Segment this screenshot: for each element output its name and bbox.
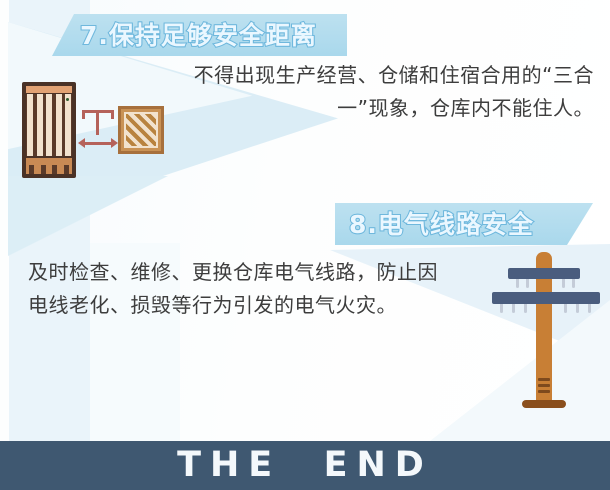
pole-crossarm-lower bbox=[492, 292, 600, 304]
pole-insulator-peg bbox=[512, 304, 515, 313]
section-banner-7: 7.保持足够安全距离 bbox=[52, 14, 347, 56]
cabinet-top-trim bbox=[26, 86, 72, 93]
cabinet-leg bbox=[52, 165, 57, 174]
cabinet-slat bbox=[37, 94, 43, 156]
cabinet-slat bbox=[65, 94, 71, 156]
pole-band bbox=[538, 378, 550, 381]
section-banner-8: 8.电气线路安全 bbox=[335, 203, 593, 245]
measure-arrow-head-right bbox=[111, 138, 118, 148]
pole-insulator-peg bbox=[572, 279, 575, 288]
pole-insulator-peg bbox=[562, 279, 565, 288]
pole-insulator-peg bbox=[500, 304, 503, 313]
cabinet-slat bbox=[46, 94, 52, 156]
footer-bar: THE END bbox=[0, 441, 610, 490]
pole-insulator-peg bbox=[564, 304, 567, 313]
cabinet-slat bbox=[56, 94, 62, 156]
pole-insulator-peg bbox=[588, 304, 591, 313]
distance-measure-icon bbox=[80, 108, 116, 154]
background-left-edge-strip bbox=[0, 0, 9, 441]
storage-cabinet-icon bbox=[22, 82, 76, 178]
pole-insulator-peg bbox=[526, 279, 529, 288]
pole-base bbox=[522, 400, 566, 408]
pole-crossarm-upper bbox=[508, 268, 580, 279]
cabinet-slats bbox=[26, 94, 72, 156]
pole-band bbox=[538, 384, 550, 387]
measure-top-tick-right bbox=[111, 110, 114, 119]
measure-top-tick-left bbox=[82, 110, 85, 119]
pole-band bbox=[538, 390, 550, 393]
cabinet-leg bbox=[41, 165, 46, 174]
pole-insulator-peg bbox=[524, 304, 527, 313]
footer-end-text: THE END bbox=[177, 448, 433, 483]
cabinet-leg bbox=[64, 165, 69, 174]
measure-arrow-head-left bbox=[78, 138, 85, 148]
cabinet-knob-icon bbox=[66, 98, 69, 101]
pole-insulator-peg bbox=[576, 304, 579, 313]
infographic-poster: 7.保持足够安全距离 不得出现生产经营、仓储和住宿合用的“三合一”现象，仓库内不… bbox=[0, 0, 610, 490]
measure-arrow-line bbox=[83, 142, 113, 145]
section-title-8: 8.电气线路安全 bbox=[349, 212, 534, 237]
section-body-7: 不得出现生产经营、仓储和住宿合用的“三合一”现象，仓库内不能住人。 bbox=[152, 59, 594, 125]
section-title-7: 7.保持足够安全距离 bbox=[80, 23, 317, 48]
wooden-crate-icon bbox=[118, 106, 164, 154]
cabinet-leg bbox=[29, 165, 34, 174]
cabinet-slat bbox=[27, 94, 33, 156]
utility-pole-illustration bbox=[488, 248, 600, 418]
storage-distance-illustration bbox=[22, 82, 170, 178]
cabinet-base bbox=[26, 158, 72, 174]
pole-insulator-peg bbox=[516, 279, 519, 288]
crate-hatch-pattern bbox=[124, 112, 158, 148]
measure-stem bbox=[96, 111, 99, 135]
section-body-8: 及时检查、维修、更换仓库电气线路，防止因电线老化、损毁等行为引发的电气火灾。 bbox=[28, 256, 458, 322]
